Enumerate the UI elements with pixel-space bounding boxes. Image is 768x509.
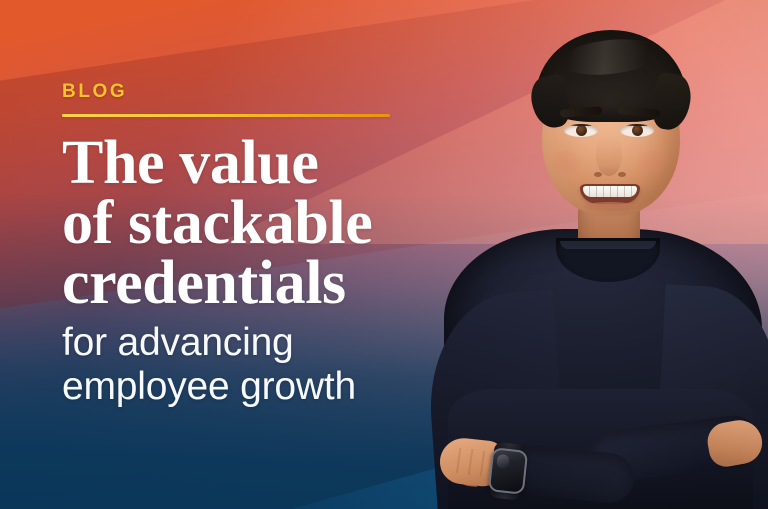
page-title: The value of stackable credentials: [62, 134, 412, 313]
teeth: [583, 186, 637, 197]
iris-left: [576, 125, 587, 136]
blog-hero-banner: BLOG The value of stackable credentials …: [0, 0, 768, 509]
eyelid-right: [620, 124, 654, 126]
portrait-photo: [438, 0, 768, 509]
subhead-line-1: for advancing: [62, 321, 412, 365]
iris-right: [632, 125, 643, 136]
nose: [596, 136, 622, 176]
headline-line-1: The value: [62, 134, 412, 194]
headline-line-2: of stackable: [62, 194, 412, 254]
headline-line-3: credentials: [62, 254, 412, 314]
smiling-mouth: [580, 184, 640, 204]
cheek-left: [550, 150, 580, 174]
hero-copy-block: BLOG The value of stackable credentials …: [62, 82, 412, 409]
eyelid-left: [564, 124, 598, 126]
eye-left: [564, 124, 598, 137]
subhead-line-2: employee growth: [62, 365, 412, 409]
eye-right: [620, 124, 654, 137]
category-eyebrow-label: BLOG: [62, 82, 412, 101]
nostril-right: [618, 172, 626, 177]
cheek-right: [638, 150, 668, 174]
nostril-left: [594, 172, 602, 177]
page-subtitle: for advancing employee growth: [62, 321, 412, 408]
lower-lip: [584, 202, 636, 211]
eyebrow-divider-rule: [62, 114, 390, 117]
smartwatch-icon: [488, 447, 528, 495]
